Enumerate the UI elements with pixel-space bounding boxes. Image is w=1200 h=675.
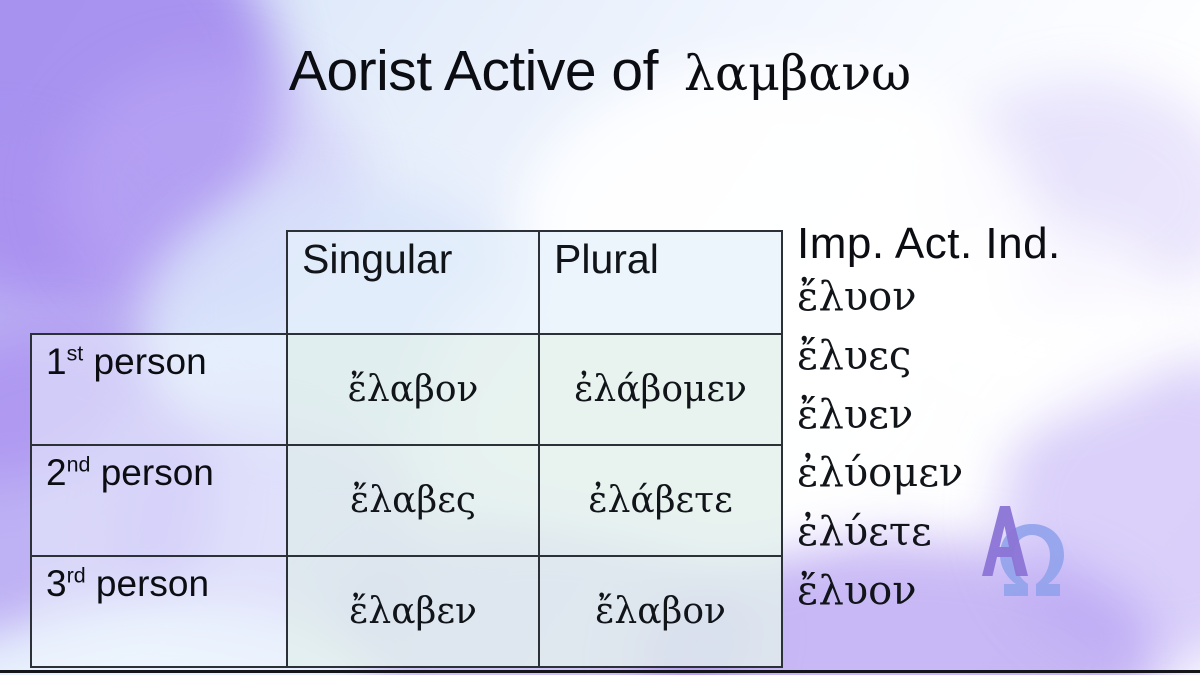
slide-title-greek: λαμβανω [684, 45, 911, 102]
table-row: 3rd person ἔλαβεν ἔλαβον [31, 556, 782, 667]
slide-canvas: Aorist Active ofλαμβανω Singular Plural … [0, 0, 1200, 675]
row-label-third-person: 3rd person [31, 556, 287, 667]
bottom-divider [0, 670, 1200, 673]
table-row: 2nd person ἔλαβες ἐλάβετε [31, 445, 782, 556]
table-header-row: Singular Plural [31, 231, 782, 334]
form-first-person-plural: ἐλάβομεν [539, 334, 782, 445]
row-label-ordinal: 1 [46, 341, 67, 382]
row-label-suffix: st [67, 342, 84, 366]
column-header-singular: Singular [287, 231, 539, 334]
imperfect-paradigm-heading: Imp. Act. Ind. [797, 222, 1187, 266]
table-corner-cell [31, 231, 287, 334]
table-row: 1st person ἔλαβον ἐλάβομεν [31, 334, 782, 445]
row-label-word: person [83, 341, 206, 382]
list-item: ἔλυον [797, 268, 1187, 327]
row-label-second-person: 2nd person [31, 445, 287, 556]
imperfect-paradigm-column: Imp. Act. Ind. ἔλυον ἔλυες ἔλυεν ἐλύομεν… [797, 222, 1187, 621]
list-item: ἐλύετε [797, 503, 1187, 562]
list-item: ἔλυες [797, 327, 1187, 386]
row-label-ordinal: 2 [46, 452, 67, 493]
row-label-suffix: rd [67, 564, 86, 588]
slide-title-english: Aorist Active of [289, 39, 658, 103]
form-second-person-singular: ἔλαβες [287, 445, 539, 556]
row-label-suffix: nd [67, 453, 91, 477]
form-second-person-plural: ἐλάβετε [539, 445, 782, 556]
list-item: ἐλύομεν [797, 444, 1187, 503]
row-label-word: person [90, 452, 213, 493]
list-item: ἔλυον [797, 562, 1187, 621]
row-label-ordinal: 3 [46, 563, 67, 604]
form-third-person-plural: ἔλαβον [539, 556, 782, 667]
list-item: ἔλυεν [797, 386, 1187, 445]
imperfect-paradigm-list: ἔλυον ἔλυες ἔλυεν ἐλύομεν ἐλύετε ἔλυον [797, 268, 1187, 621]
row-label-word: person [86, 563, 209, 604]
row-label-first-person: 1st person [31, 334, 287, 445]
form-first-person-singular: ἔλαβον [287, 334, 539, 445]
slide-title: Aorist Active ofλαμβανω [0, 38, 1200, 104]
column-header-plural: Plural [539, 231, 782, 334]
conjugation-table: Singular Plural 1st person ἔλαβον ἐλάβομ… [30, 230, 783, 668]
form-third-person-singular: ἔλαβεν [287, 556, 539, 667]
